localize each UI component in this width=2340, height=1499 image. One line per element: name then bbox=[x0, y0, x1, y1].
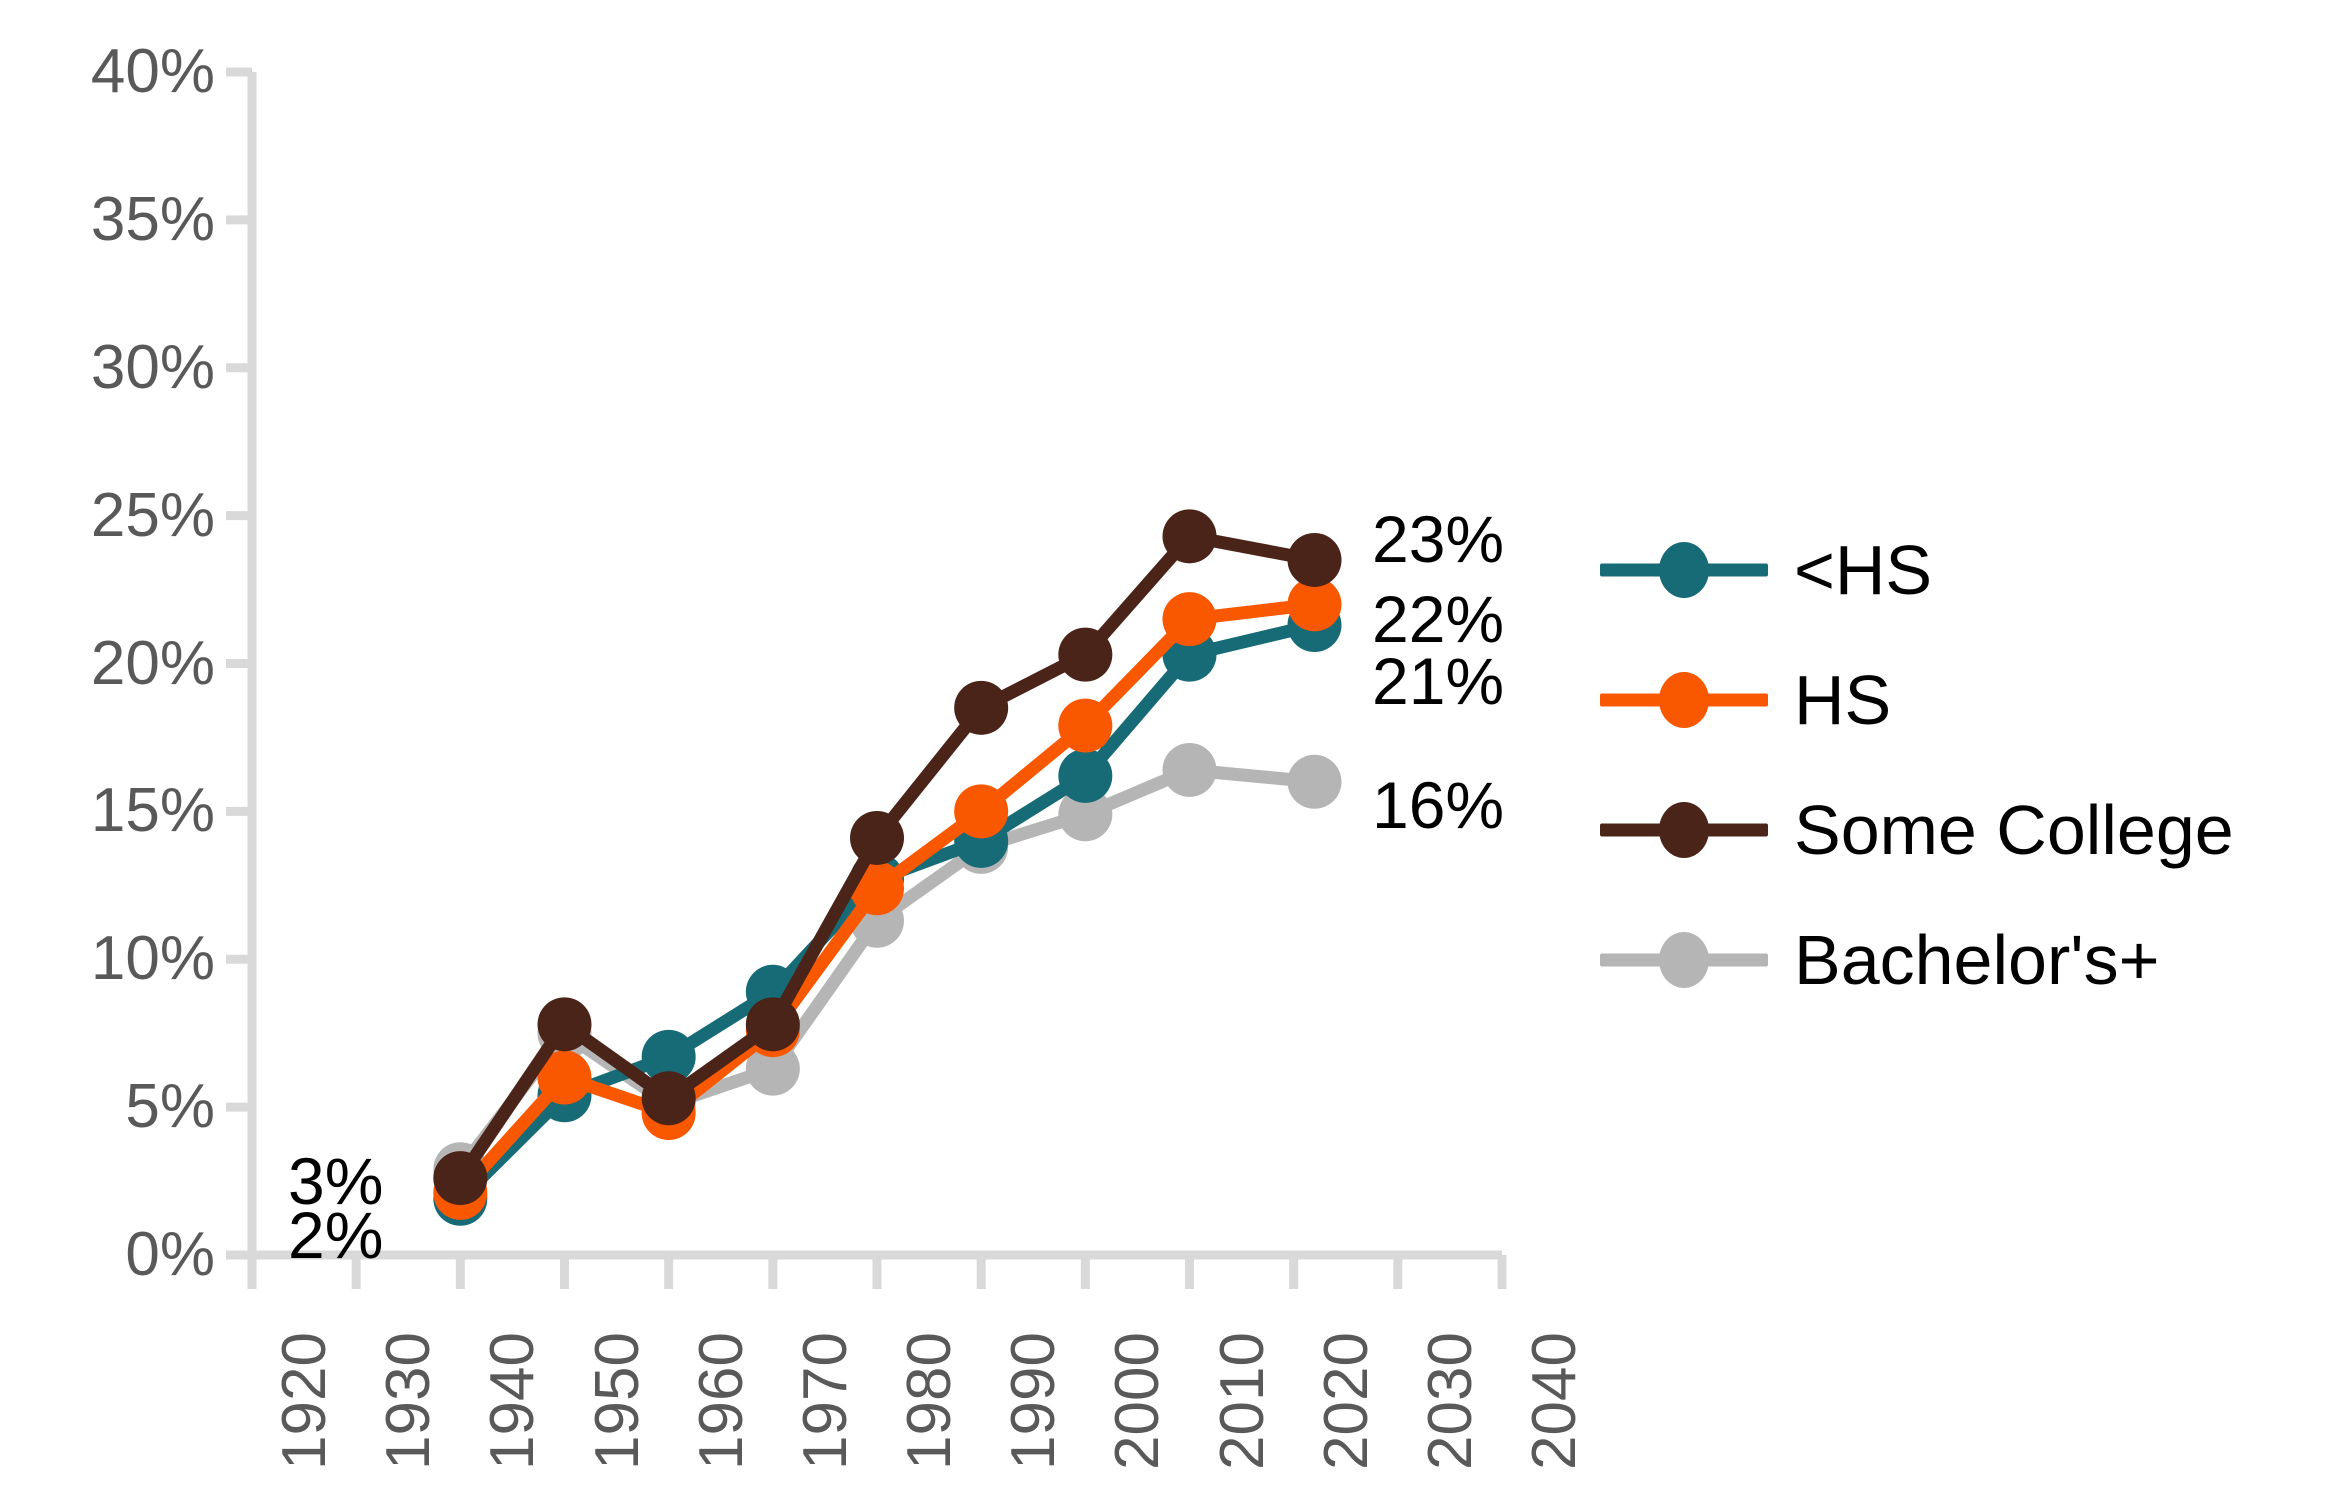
start-value-annotation: 2% bbox=[288, 1202, 383, 1268]
x-axis-tick-label: 1920 bbox=[274, 1332, 336, 1470]
legend-key-marker-icon bbox=[1659, 542, 1709, 598]
x-axis-tick-label: 2000 bbox=[1107, 1332, 1169, 1470]
x-axis-tick-label: 1980 bbox=[899, 1332, 961, 1470]
legend-item-label: <HS bbox=[1794, 535, 1932, 605]
legend-item-some-college[interactable]: Some College bbox=[1600, 765, 2320, 895]
end-value-annotation: 21% bbox=[1372, 648, 1504, 714]
legend-item-hs[interactable]: <HS bbox=[1600, 505, 2320, 635]
legend-key-icon bbox=[1600, 802, 1768, 858]
legend-key-marker-icon bbox=[1659, 932, 1709, 988]
legend-item-label: Bachelor's+ bbox=[1794, 925, 2160, 995]
legend-key-marker-icon bbox=[1659, 802, 1709, 858]
legend-key-icon bbox=[1600, 542, 1768, 598]
legend-key-marker-icon bbox=[1659, 672, 1709, 728]
line-chart: 40%35%30%25%20%15%10%5%0% 19201930194019… bbox=[0, 0, 2340, 1499]
x-axis-tick-label: 2010 bbox=[1212, 1332, 1274, 1470]
legend-key-icon bbox=[1600, 932, 1768, 988]
chart-legend: <HSHSSome CollegeBachelor's+ bbox=[1600, 505, 2320, 1025]
x-axis-tick-label: 1930 bbox=[378, 1332, 440, 1470]
legend-item-hs[interactable]: HS bbox=[1600, 635, 2320, 765]
legend-item-bachelor-s[interactable]: Bachelor's+ bbox=[1600, 895, 2320, 1025]
x-axis-tick-label: 2020 bbox=[1316, 1332, 1378, 1470]
x-axis-tick-label: 1970 bbox=[795, 1332, 857, 1470]
x-axis-tick-label: 1940 bbox=[482, 1332, 544, 1470]
x-axis-tick-label: 2030 bbox=[1420, 1332, 1482, 1470]
x-axis-tick-label: 1990 bbox=[1003, 1332, 1065, 1470]
legend-item-label: Some College bbox=[1794, 795, 2234, 865]
end-value-annotation: 23% bbox=[1372, 506, 1504, 572]
x-axis-tick-label: 1960 bbox=[691, 1332, 753, 1470]
legend-key-icon bbox=[1600, 672, 1768, 728]
end-value-annotation: 16% bbox=[1372, 772, 1504, 838]
end-value-annotation: 22% bbox=[1372, 586, 1504, 652]
x-axis-tick-label: 1950 bbox=[587, 1332, 649, 1470]
legend-item-label: HS bbox=[1794, 665, 1891, 735]
x-axis-tick-label: 2040 bbox=[1524, 1332, 1586, 1470]
